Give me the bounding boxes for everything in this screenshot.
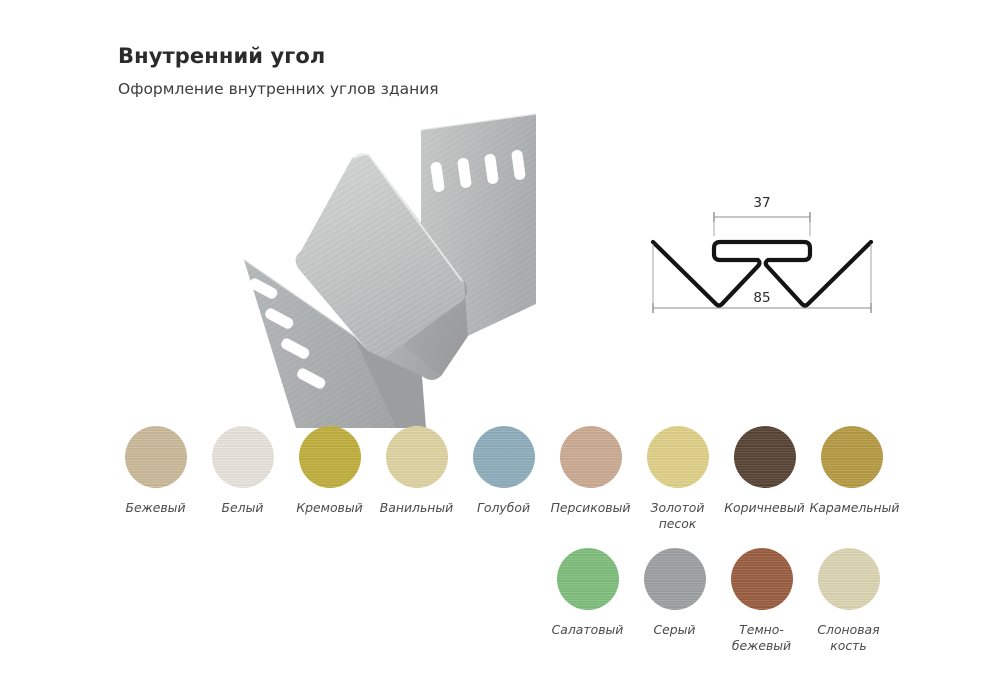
color-swatch[interactable]: Карамельный	[808, 426, 895, 532]
color-swatch[interactable]: Темно-бежевый	[718, 548, 805, 654]
color-name: Коричневый	[724, 500, 804, 516]
color-circle[interactable]	[557, 548, 619, 610]
color-name: Слоновая кость	[807, 622, 891, 654]
color-swatch[interactable]: Ванильный	[373, 426, 460, 532]
color-name: Персиковый	[551, 500, 631, 516]
color-circle[interactable]	[125, 426, 187, 488]
color-swatch[interactable]: Бежевый	[112, 426, 199, 532]
color-name: Золотой песок	[636, 500, 720, 532]
color-swatch[interactable]: Персиковый	[547, 426, 634, 532]
color-swatch[interactable]: Кремовый	[286, 426, 373, 532]
color-name: Темно-бежевый	[720, 622, 804, 654]
color-circle[interactable]	[644, 548, 706, 610]
page-title: Внутренний угол	[118, 44, 638, 69]
color-row-secondary: Салатовый Серый Темно-бежевый Слоновая к…	[544, 548, 892, 654]
color-name: Ванильный	[380, 500, 453, 516]
color-swatch[interactable]: Золотой песок	[634, 426, 721, 532]
color-circle[interactable]	[299, 426, 361, 488]
color-name: Бежевый	[125, 500, 185, 516]
color-circle[interactable]	[647, 426, 709, 488]
dimension-85: 85	[653, 244, 871, 313]
product-spec-page: Внутренний угол Оформление внутренних уг…	[0, 0, 1000, 700]
color-circle[interactable]	[386, 426, 448, 488]
dimension-37-value: 37	[753, 195, 770, 211]
header: Внутренний угол Оформление внутренних уг…	[118, 44, 638, 99]
color-swatch[interactable]: Салатовый	[544, 548, 631, 654]
color-circle[interactable]	[731, 548, 793, 610]
color-name: Белый	[222, 500, 264, 516]
color-circle[interactable]	[818, 548, 880, 610]
color-name: Кремовый	[296, 500, 362, 516]
color-circle[interactable]	[212, 426, 274, 488]
page-subtitle: Оформление внутренних углов здания	[118, 79, 638, 99]
color-swatch[interactable]: Серый	[631, 548, 718, 654]
product-render-image	[236, 108, 556, 428]
color-name: Серый	[654, 622, 696, 638]
color-name: Голубой	[477, 500, 530, 516]
color-row-primary: Бежевый Белый Кремовый Ванильный Голубой…	[112, 426, 895, 532]
color-name: Салатовый	[552, 622, 624, 638]
dimension-85-value: 85	[753, 290, 770, 306]
color-swatch[interactable]: Слоновая кость	[805, 548, 892, 654]
dimension-37: 37	[714, 195, 810, 236]
color-circle[interactable]	[821, 426, 883, 488]
technical-drawing: 37 85	[640, 180, 890, 320]
color-swatch[interactable]: Голубой	[460, 426, 547, 532]
color-name: Карамельный	[810, 500, 894, 516]
color-swatch[interactable]: Коричневый	[721, 426, 808, 532]
color-swatch[interactable]: Белый	[199, 426, 286, 532]
color-circle[interactable]	[473, 426, 535, 488]
color-circle[interactable]	[560, 426, 622, 488]
color-circle[interactable]	[734, 426, 796, 488]
